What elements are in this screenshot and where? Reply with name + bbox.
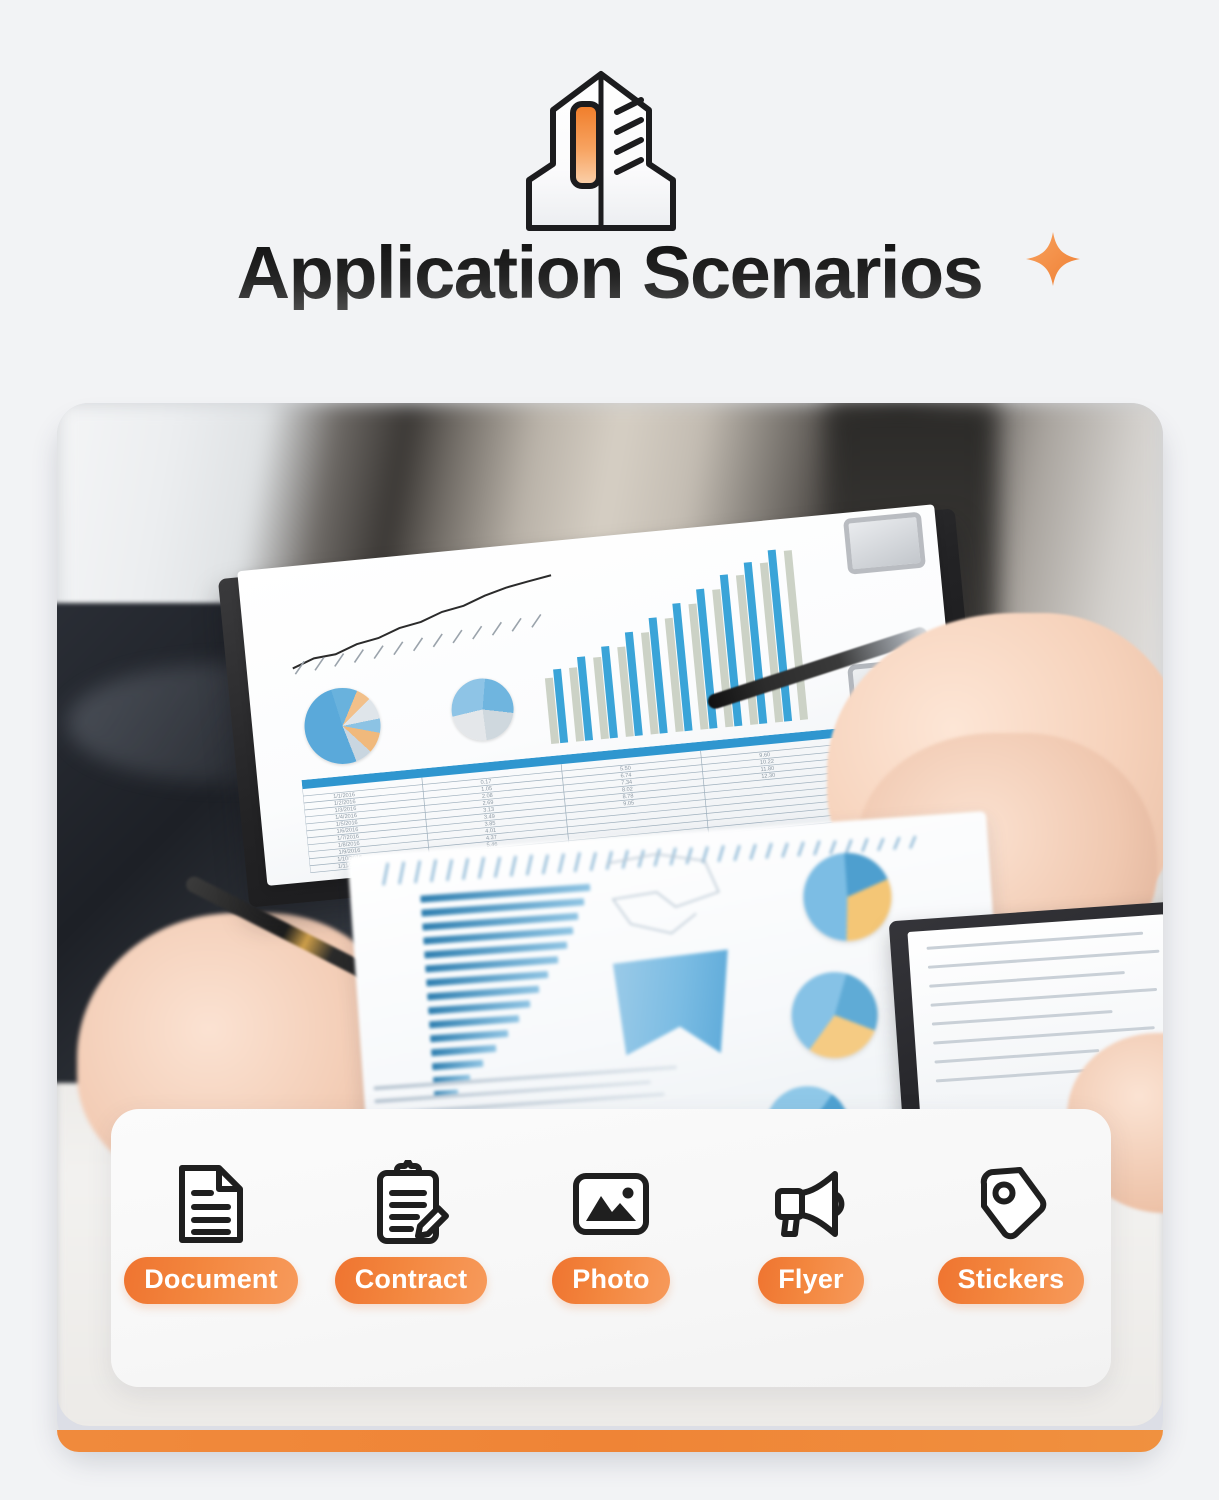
svg-text:3.49: 3.49 — [484, 814, 495, 821]
scenario-item-photo[interactable]: Photo — [516, 1161, 706, 1304]
building-tower-icon — [497, 68, 705, 253]
scenario-label-photo[interactable]: Photo — [552, 1257, 669, 1304]
scenario-item-document[interactable]: Document — [116, 1161, 306, 1304]
page-title: Application Scenarios — [237, 236, 983, 310]
photo-image-icon — [571, 1161, 651, 1247]
report-funnel-chart — [610, 947, 735, 1060]
scenario-chip-row: Document — [111, 1161, 1111, 1304]
scenario-label-contract[interactable]: Contract — [335, 1257, 488, 1304]
contract-clipboard-pen-icon — [373, 1161, 449, 1247]
svg-text:3.85: 3.85 — [484, 821, 495, 828]
scenario-chip-panel: Document — [111, 1109, 1111, 1387]
svg-text:4.01: 4.01 — [485, 828, 496, 835]
report-donut-chart-2 — [789, 969, 881, 1061]
svg-text:9.60: 9.60 — [759, 752, 770, 759]
report-pie-chart-2 — [449, 676, 517, 744]
price-tag-stickers-icon — [972, 1161, 1050, 1247]
report-bar-chart — [529, 533, 816, 748]
svg-text:9.05: 9.05 — [623, 800, 634, 807]
page-header: Application Scenarios — [0, 0, 1219, 392]
scenario-label-stickers[interactable]: Stickers — [938, 1257, 1085, 1304]
svg-text:0.17: 0.17 — [480, 779, 491, 786]
svg-text:3.13: 3.13 — [483, 807, 494, 814]
scenario-item-stickers[interactable]: Stickers — [916, 1161, 1106, 1304]
report-donut-chart-1 — [800, 850, 894, 944]
svg-text:5.50: 5.50 — [620, 766, 631, 773]
megaphone-flyer-icon — [769, 1161, 853, 1247]
svg-text:8.02: 8.02 — [622, 786, 633, 793]
clipboard-clip-top — [843, 512, 926, 575]
photo-accent-bar — [57, 1430, 1163, 1452]
sparkle-star-icon — [1022, 228, 1084, 290]
scenario-label-flyer[interactable]: Flyer — [758, 1257, 864, 1304]
svg-text:6.74: 6.74 — [620, 772, 631, 779]
application-scenarios-page: Application Scenarios — [0, 0, 1219, 1500]
svg-text:7.34: 7.34 — [621, 779, 632, 786]
svg-text:2.08: 2.08 — [482, 793, 493, 800]
document-icon — [175, 1161, 247, 1247]
svg-text:2.69: 2.69 — [482, 800, 493, 807]
scenario-item-contract[interactable]: Contract — [316, 1161, 506, 1304]
report-network-diagram — [596, 846, 752, 946]
svg-text:8.78: 8.78 — [622, 793, 633, 800]
scenario-label-document[interactable]: Document — [124, 1257, 298, 1304]
report-pie-chart-1 — [301, 684, 384, 767]
svg-text:1.05: 1.05 — [481, 786, 492, 793]
scenario-item-flyer[interactable]: Flyer — [716, 1161, 906, 1304]
svg-text:4.37: 4.37 — [486, 835, 497, 842]
